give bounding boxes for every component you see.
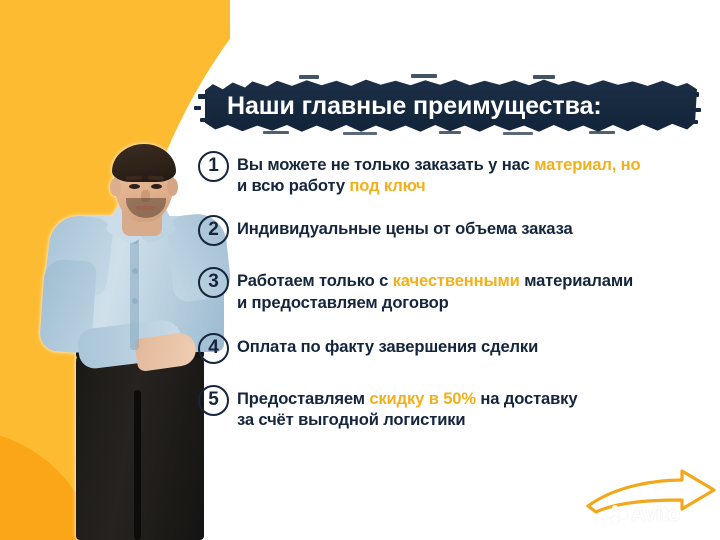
benefit-1-line1-plain: Вы можете не только заказать у нас bbox=[237, 155, 534, 174]
benefit-text-5: Предоставляем скидку в 50% на доставку з… bbox=[237, 386, 577, 430]
person-shirt-button bbox=[132, 268, 138, 274]
benefit-3-line1-highlight: качественными bbox=[393, 271, 520, 290]
benefit-text-2: Индивидуальные цены от объема заказа bbox=[237, 216, 573, 239]
person-shirt-button bbox=[132, 298, 138, 304]
benefit-number-5: 5 bbox=[198, 385, 229, 416]
benefit-item-4: 4 Оплата по факту завершения сделки bbox=[198, 334, 710, 364]
benefit-item-5: 5 Предоставляем скидку в 50% на доставку… bbox=[198, 386, 710, 430]
benefit-number-3: 3 bbox=[198, 267, 229, 298]
avito-dots-icon bbox=[606, 505, 628, 525]
benefit-5-line1-tail: на доставку bbox=[476, 389, 577, 408]
benefits-list: 1 Вы можете не только заказать у нас мат… bbox=[198, 152, 710, 447]
benefit-number-2: 2 bbox=[198, 215, 229, 246]
benefit-5-line1-highlight: скидку в 50% bbox=[369, 389, 476, 408]
person-ear-right bbox=[167, 178, 178, 196]
brush-speck bbox=[194, 106, 201, 110]
benefit-3-line2-plain: и предоставляем договор bbox=[237, 293, 449, 312]
benefit-1-line2-plain: и всю работу bbox=[237, 176, 349, 195]
benefit-4-line1-plain: Оплата по факту завершения сделки bbox=[237, 337, 538, 356]
benefit-text-4: Оплата по факту завершения сделки bbox=[237, 334, 538, 357]
benefit-1-line1-highlight: материал, но bbox=[534, 155, 640, 174]
benefit-5-line1-plain: Предоставляем bbox=[237, 389, 369, 408]
benefit-number-1: 1 bbox=[198, 151, 229, 182]
avito-wordmark: Avito bbox=[631, 503, 680, 527]
benefit-number-4: 4 bbox=[198, 333, 229, 364]
person-mouth bbox=[136, 206, 156, 210]
benefit-3-line1-plain: Работаем только с bbox=[237, 271, 393, 290]
benefit-item-3: 3 Работаем только с качественными матери… bbox=[198, 268, 710, 312]
avito-watermark: Avito bbox=[606, 503, 680, 527]
benefit-1-line2-highlight: под ключ bbox=[349, 176, 425, 195]
benefit-item-2: 2 Индивидуальные цены от объема заказа bbox=[198, 216, 710, 246]
benefit-3-line1-tail: материалами bbox=[520, 271, 633, 290]
person-ear-left bbox=[110, 178, 121, 196]
title-banner: Наши главные преимущества: bbox=[203, 78, 697, 134]
person-eye-left bbox=[129, 184, 140, 189]
person-leg-split bbox=[134, 390, 141, 540]
benefit-5-line2-plain: за счёт выгодной логистики bbox=[237, 410, 466, 429]
benefit-text-3: Работаем только с качественными материал… bbox=[237, 268, 633, 312]
benefit-2-line1-plain: Индивидуальные цены от объема заказа bbox=[237, 219, 573, 238]
benefit-text-1: Вы можете не только заказать у нас матер… bbox=[237, 152, 641, 196]
person-eye-right bbox=[151, 184, 162, 189]
promo-poster: Наши главные преимущества: 1 Вы можете н… bbox=[0, 0, 720, 540]
banner-title: Наши главные преимущества: bbox=[203, 78, 697, 134]
benefit-item-1: 1 Вы можете не только заказать у нас мат… bbox=[198, 152, 710, 196]
